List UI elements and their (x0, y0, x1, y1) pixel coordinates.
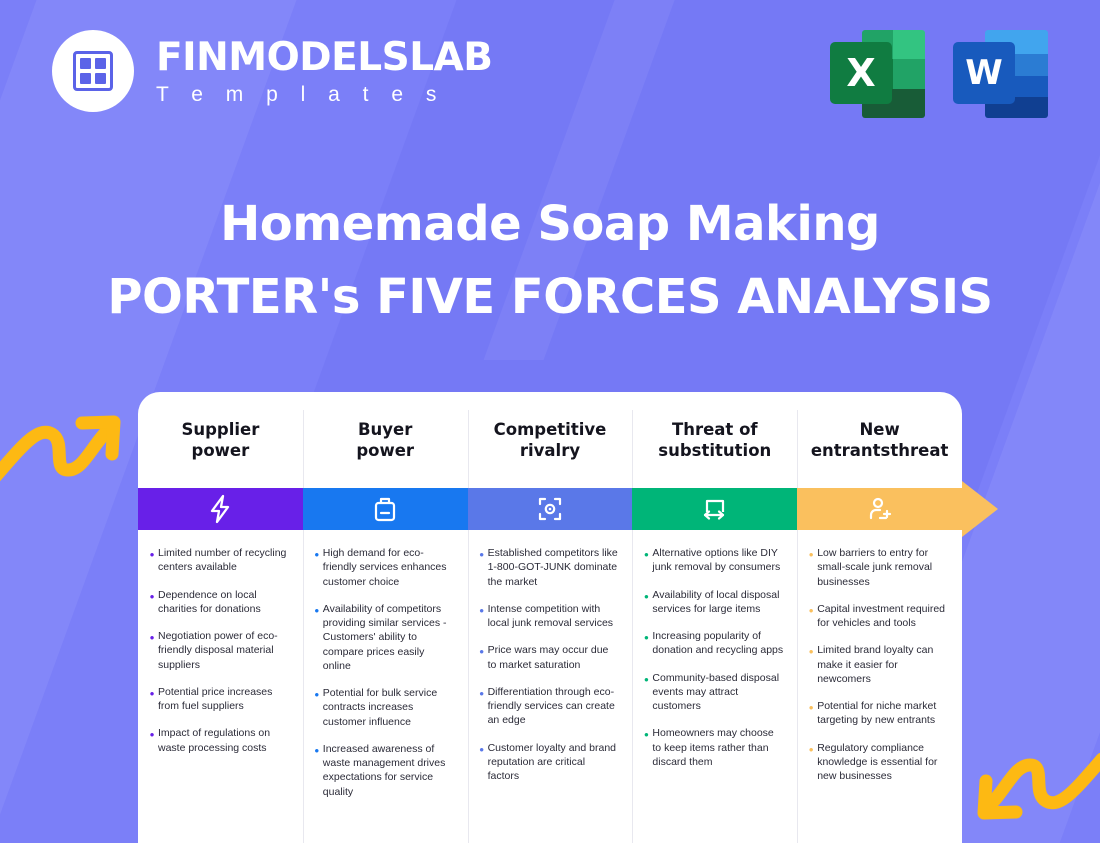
grid-logo-icon (52, 30, 134, 112)
forces-columns: Supplier power •Limited number of recycl… (138, 392, 962, 843)
list-item: •Community-based disposal events may att… (640, 671, 783, 714)
force-column-supplier-power: Supplier power •Limited number of recycl… (138, 392, 303, 843)
list-item: •Low barriers to entry for small-scale j… (805, 546, 948, 589)
column-title-line2: entrantsthreat (811, 441, 949, 460)
brand-name: FINMODELSLAB (156, 38, 492, 77)
column-header: New entrantsthreat (797, 392, 962, 488)
bullet-dot: • (476, 546, 488, 589)
bullet-dot: • (640, 671, 652, 714)
squiggle-arrow-down-left-icon (974, 753, 1100, 831)
bullet-dot: • (640, 629, 652, 658)
excel-icon-letter: X (830, 42, 892, 104)
bullet-text: Alternative options like DIY junk remova… (652, 546, 783, 575)
brand-text: FINMODELSLAB T e m p l a t e s (156, 38, 492, 105)
bullet-text: Community-based disposal events may attr… (652, 671, 783, 714)
bullet-text: High demand for eco-friendly services en… (323, 546, 454, 589)
bullet-text: Dependence on local charities for donati… (158, 588, 289, 617)
bullet-list: •Limited number of recycling centers ava… (138, 530, 303, 755)
bullet-list: •Alternative options like DIY junk remov… (632, 530, 797, 769)
squiggle-arrow-up-right-icon (0, 404, 124, 482)
column-header: Supplier power (138, 392, 303, 488)
bullet-text: Potential for bulk service contracts inc… (323, 686, 454, 729)
column-title-line1: Competitive (494, 420, 607, 439)
bullet-text: Low barriers to entry for small-scale ju… (817, 546, 948, 589)
column-title-line2: power (192, 441, 250, 460)
list-item: •Availability of competitors providing s… (311, 602, 454, 673)
list-item: •Increasing popularity of donation and r… (640, 629, 783, 658)
list-item: •High demand for eco-friendly services e… (311, 546, 454, 589)
bullet-text: Price wars may occur due to market satur… (488, 643, 619, 672)
bullet-dot: • (146, 588, 158, 617)
list-item: •Regulatory compliance knowledge is esse… (805, 741, 948, 784)
page-subtitle: Homemade Soap Making (0, 196, 1100, 253)
bullet-dot: • (805, 699, 817, 728)
bullet-list: •High demand for eco-friendly services e… (303, 530, 468, 799)
bullet-dot: • (146, 685, 158, 714)
bullet-list: •Established competitors like 1-800-GOT-… (468, 530, 633, 783)
list-item: •Alternative options like DIY junk remov… (640, 546, 783, 575)
bullet-dot: • (146, 546, 158, 575)
list-item: •Increased awareness of waste management… (311, 742, 454, 799)
column-title-line1: Buyer (358, 420, 412, 439)
bullet-dot: • (805, 602, 817, 631)
add-user-icon (866, 495, 894, 523)
bullet-dot: • (476, 602, 488, 631)
bullet-list: •Low barriers to entry for small-scale j… (797, 530, 962, 783)
target-focus-icon (536, 495, 564, 523)
list-item: •Negotiation power of eco-friendly dispo… (146, 629, 289, 672)
column-title-line2: power (356, 441, 414, 460)
column-band (468, 488, 633, 530)
column-title-line2: rivalry (520, 441, 580, 460)
bullet-dot: • (476, 741, 488, 784)
word-icon-letter: W (953, 42, 1015, 104)
list-item: •Dependence on local charities for donat… (146, 588, 289, 617)
bullet-dot: • (640, 588, 652, 617)
excel-icon: X (830, 28, 925, 120)
bullet-dot: • (146, 726, 158, 755)
list-item: •Potential for bulk service contracts in… (311, 686, 454, 729)
list-item: •Potential price increases from fuel sup… (146, 685, 289, 714)
column-header: Competitive rivalry (468, 392, 633, 488)
column-title-line2: substitution (658, 441, 771, 460)
brand-header: FINMODELSLAB T e m p l a t e s (52, 30, 492, 112)
bullet-text: Impact of regulations on waste processin… (158, 726, 289, 755)
column-header: Buyer power (303, 392, 468, 488)
bullet-text: Potential price increases from fuel supp… (158, 685, 289, 714)
exchange-arrows-icon (701, 496, 729, 522)
list-item: •Intense competition with local junk rem… (476, 602, 619, 631)
force-column-competitive-rivalry: Competitive rivalry •Established competi… (468, 392, 633, 843)
bullet-text: Limited number of recycling centers avai… (158, 546, 289, 575)
bullet-text: Intense competition with local junk remo… (488, 602, 619, 631)
bullet-dot: • (805, 643, 817, 686)
bullet-text: Customer loyalty and brand reputation ar… (488, 741, 619, 784)
bullet-dot: • (311, 742, 323, 799)
bullet-dot: • (476, 685, 488, 728)
column-band (138, 488, 303, 530)
bullet-dot: • (311, 602, 323, 673)
list-item: •Price wars may occur due to market satu… (476, 643, 619, 672)
bullet-dot: • (146, 629, 158, 672)
bullet-text: Homeowners may choose to keep items rath… (652, 726, 783, 769)
list-item: •Limited brand loyalty can make it easie… (805, 643, 948, 686)
list-item: •Potential for niche market targeting by… (805, 699, 948, 728)
bullet-text: Regulatory compliance knowledge is essen… (817, 741, 948, 784)
column-band (303, 488, 468, 530)
bullet-dot: • (311, 546, 323, 589)
force-column-new-entrants-threat: New entrantsthreat •Low barriers to entr… (797, 392, 962, 843)
bullet-text: Limited brand loyalty can make it easier… (817, 643, 948, 686)
bullet-dot: • (640, 546, 652, 575)
bullet-text: Negotiation power of eco-friendly dispos… (158, 629, 289, 672)
force-column-buyer-power: Buyer power •High demand for eco-friendl… (303, 392, 468, 843)
bullet-text: Availability of competitors providing si… (323, 602, 454, 673)
brand-tagline: T e m p l a t e s (156, 84, 492, 105)
list-item: •Limited number of recycling centers ava… (146, 546, 289, 575)
column-band (797, 488, 962, 530)
bullet-text: Increased awareness of waste management … (323, 742, 454, 799)
bullet-dot: • (805, 546, 817, 589)
list-item: •Impact of regulations on waste processi… (146, 726, 289, 755)
list-item: •Capital investment required for vehicle… (805, 602, 948, 631)
page-title: PORTER's FIVE FORCES ANALYSIS (0, 269, 1100, 326)
force-column-threat-of-substitution: Threat of substitution •Alternative opti… (632, 392, 797, 843)
page-title-block: Homemade Soap Making PORTER's FIVE FORCE… (0, 196, 1100, 325)
bullet-dot: • (476, 643, 488, 672)
bullet-text: Availability of local disposal services … (652, 588, 783, 617)
lightning-bolt-icon (207, 494, 233, 524)
office-icons: X W (830, 28, 1048, 120)
list-item: •Availability of local disposal services… (640, 588, 783, 617)
bullet-text: Potential for niche market targeting by … (817, 699, 948, 728)
bullet-text: Differentiation through eco-friendly ser… (488, 685, 619, 728)
bullet-text: Capital investment required for vehicles… (817, 602, 948, 631)
list-item: •Homeowners may choose to keep items rat… (640, 726, 783, 769)
list-item: •Customer loyalty and brand reputation a… (476, 741, 619, 784)
list-item: •Established competitors like 1-800-GOT-… (476, 546, 619, 589)
column-title-line1: Supplier (181, 420, 259, 439)
column-title-line1: New (859, 420, 899, 439)
porters-five-forces-card: Supplier power •Limited number of recycl… (138, 392, 962, 843)
bullet-dot: • (311, 686, 323, 729)
column-band (632, 488, 797, 530)
list-item: •Differentiation through eco-friendly se… (476, 685, 619, 728)
bullet-dot: • (805, 741, 817, 784)
column-title-line1: Threat of (672, 420, 758, 439)
word-icon: W (953, 28, 1048, 120)
bullet-dot: • (640, 726, 652, 769)
bullet-text: Increasing popularity of donation and re… (652, 629, 783, 658)
shopping-bag-icon (372, 495, 398, 523)
bullet-text: Established competitors like 1-800-GOT-J… (488, 546, 619, 589)
column-header: Threat of substitution (632, 392, 797, 488)
